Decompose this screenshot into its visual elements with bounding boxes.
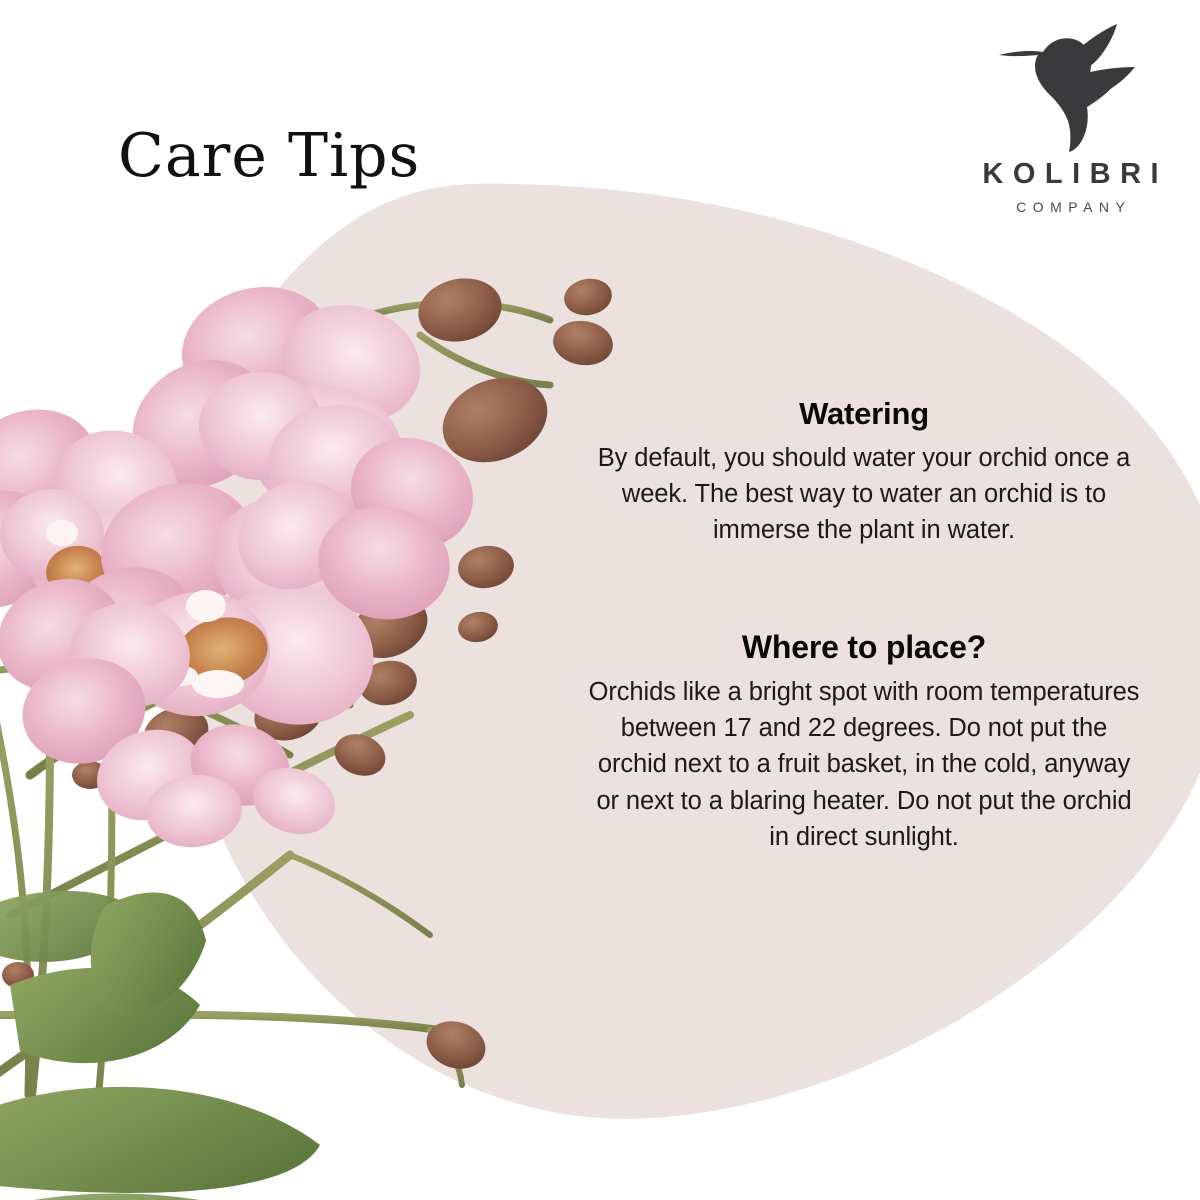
care-tips-content: Watering By default, you should water yo… [586, 396, 1142, 855]
hummingbird-icon-svg [991, 22, 1141, 152]
tip-body-where-to-place: Orchids like a bright spot with room tem… [586, 674, 1142, 855]
brand-logo: KOLIBRI COMPANY [963, 22, 1178, 217]
orchid-plant-photo [0, 215, 630, 1200]
orchid-plant-illustration [0, 215, 630, 1200]
orchid-blossoms [0, 271, 490, 851]
tip-block-where-to-place: Where to place? Orchids like a bright sp… [586, 629, 1142, 855]
tip-heading-where-to-place: Where to place? [586, 629, 1142, 666]
tip-body-watering: By default, you should water your orchid… [586, 440, 1142, 549]
page-title: Care Tips [118, 126, 420, 186]
hummingbird-logo-icon [991, 22, 1141, 152]
care-tips-poster: Care Tips KOLIBRI COMPANY Watering By de… [0, 0, 1200, 1200]
tip-block-watering: Watering By default, you should water yo… [586, 396, 1142, 548]
brand-wordmark: KOLIBRI [963, 160, 1178, 189]
brand-tagline: COMPANY [963, 200, 1178, 214]
orchid-leaves [0, 891, 320, 1200]
tip-heading-watering: Watering [586, 396, 1142, 432]
